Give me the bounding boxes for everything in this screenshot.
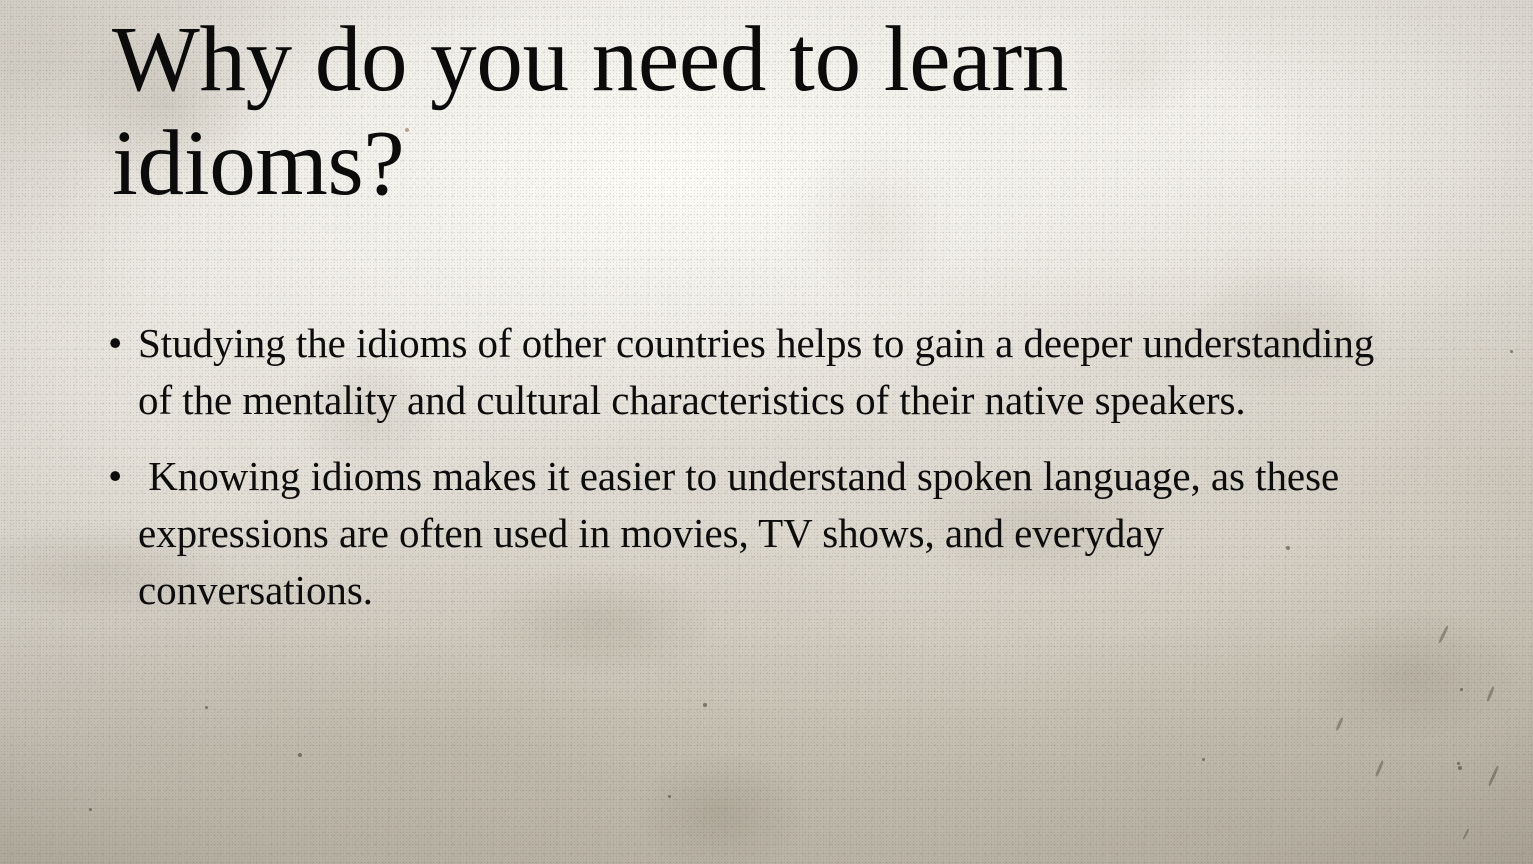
bullet-point-icon: • [108,315,122,372]
slide-title: Why do you need to learn idioms? [112,8,1192,216]
slide-bullet-list: • Studying the idioms of other countries… [104,315,1404,619]
bullet-item-text: Knowing idioms makes it easier to unders… [138,448,1404,619]
bullet-point-icon: • [108,448,122,505]
bullet-item: • Knowing idioms makes it easier to unde… [104,448,1404,619]
bullet-item: • Studying the idioms of other countries… [104,315,1404,429]
slide-content: Why do you need to learn idioms? • Study… [0,0,1533,864]
bullet-item-text: Studying the idioms of other countries h… [138,315,1404,429]
presentation-slide: Why do you need to learn idioms? • Study… [0,0,1533,864]
